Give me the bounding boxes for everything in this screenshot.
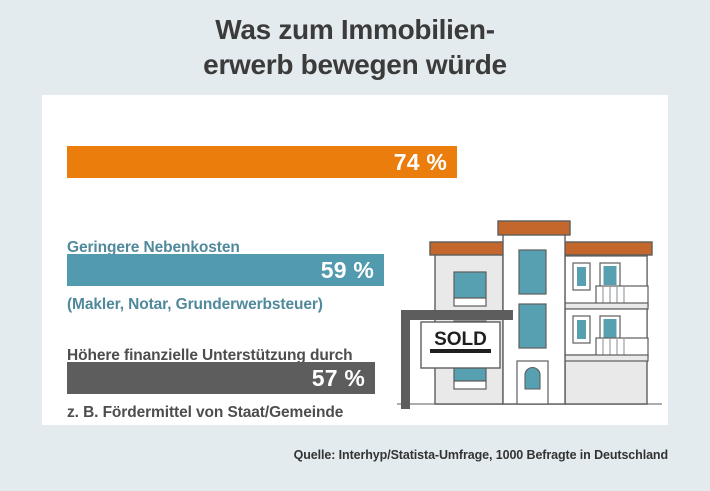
source-note: Quelle: Interhyp/Statista-Umfrage, 1000 …: [294, 448, 668, 462]
sold-sign-text: SOLD: [434, 329, 487, 350]
page-title-line-1: Was zum Immobilien-: [0, 12, 710, 47]
page-title-line-2: erwerb bewegen würde: [0, 47, 710, 82]
bar-value-2: 59 %: [321, 257, 384, 284]
house-illustration: SOLD: [397, 215, 662, 420]
bar-value-3: 57 %: [312, 365, 375, 392]
bar-1: 74 %: [67, 146, 457, 178]
page-title: Was zum Immobilien- erwerb bewegen würde: [0, 12, 710, 82]
bar-3: 57 %: [67, 362, 375, 394]
bar-label-3-line-2: z. B. Fördermittel von Staat/Gemeinde: [67, 403, 353, 422]
bar-2: 59 %: [67, 254, 384, 286]
bar-value-1: 74 %: [394, 149, 457, 176]
chart-card: Geringere Kaufpreise bzw. geringere Bauk…: [42, 95, 668, 425]
infographic-root: Was zum Immobilien- erwerb bewegen würde…: [0, 0, 710, 491]
